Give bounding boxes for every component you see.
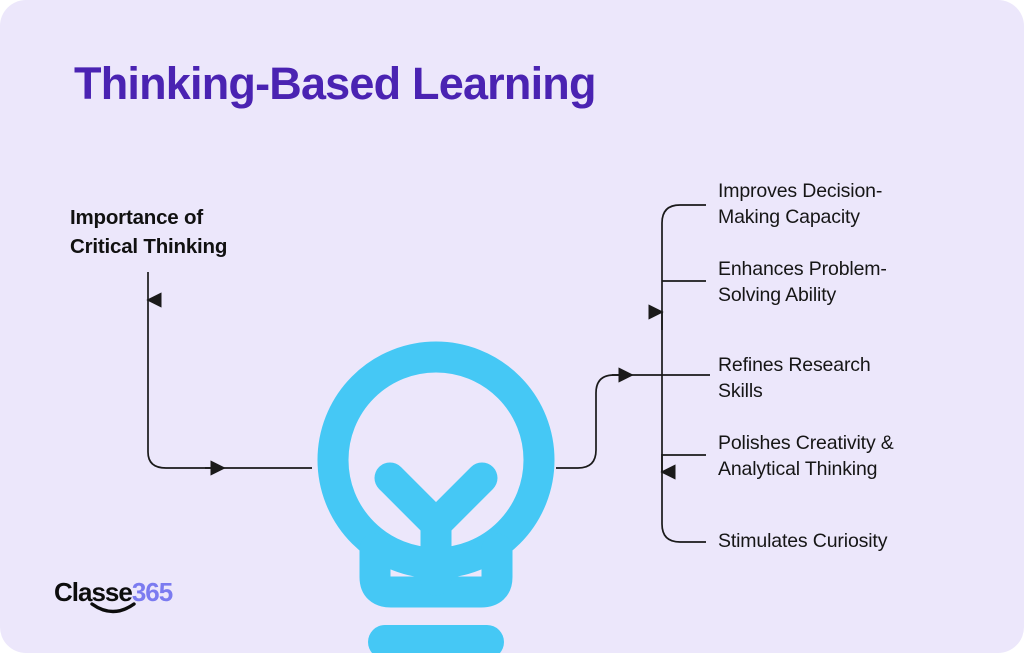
- connector-diagram: [0, 0, 1024, 653]
- benefit-item-3-line1: Refines Research: [718, 352, 968, 378]
- benefit-item-2-line2: Solving Ability: [718, 282, 968, 308]
- left-connector-elbow: [148, 300, 312, 468]
- lightbulb-base: [368, 625, 504, 653]
- infographic-canvas: Thinking-Based Learning Importance of Cr…: [0, 0, 1024, 653]
- right-connector-main: [556, 375, 710, 468]
- benefit-item-1-line2: Making Capacity: [718, 204, 968, 230]
- lightbulb-icon: [333, 357, 539, 653]
- benefit-item-2: Enhances Problem- Solving Ability: [718, 256, 968, 308]
- classe365-logo: Classe365: [54, 578, 172, 622]
- benefit-item-5: Stimulates Curiosity: [718, 528, 968, 554]
- benefit-item-4: Polishes Creativity & Analytical Thinkin…: [718, 430, 968, 482]
- logo-number: 365: [132, 577, 172, 607]
- benefit-item-3: Refines Research Skills: [718, 352, 968, 404]
- benefit-item-2-line1: Enhances Problem-: [718, 256, 968, 282]
- logo-smile-icon: [90, 602, 136, 618]
- benefit-item-4-line1: Polishes Creativity &: [718, 430, 968, 456]
- benefit-item-4-line2: Analytical Thinking: [718, 456, 968, 482]
- benefit-item-3-line2: Skills: [718, 378, 968, 404]
- benefit-item-1: Improves Decision- Making Capacity: [718, 178, 968, 230]
- benefit-item-5-line1: Stimulates Curiosity: [718, 528, 968, 554]
- benefit-item-1-line1: Improves Decision-: [718, 178, 968, 204]
- right-spine: [662, 205, 706, 542]
